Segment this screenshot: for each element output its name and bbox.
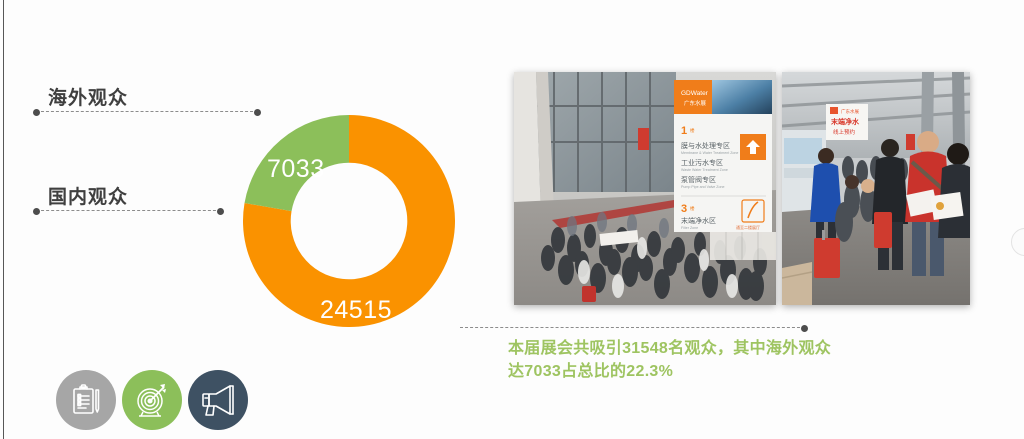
svg-text:末端净水区: 末端净水区 — [681, 216, 716, 225]
legend-rule-overseas — [36, 111, 258, 113]
donut-value-overseas: 7033 — [267, 155, 325, 184]
megaphone-icon — [200, 383, 236, 417]
svg-text:Membrane & Water Treatment Zon: Membrane & Water Treatment Zone — [681, 151, 738, 155]
svg-text:楼: 楼 — [690, 205, 695, 212]
svg-text:Filter Zone: Filter Zone — [681, 226, 698, 230]
svg-text:泵管阀专区: 泵管阀专区 — [681, 175, 716, 184]
svg-text:广东水展: 广东水展 — [841, 108, 859, 115]
caption-rule — [460, 327, 805, 329]
donut-value-domestic: 24515 — [320, 296, 392, 325]
svg-text:广东水展: 广东水展 — [684, 99, 707, 107]
svg-text:Waste Water Treatment Zone: Waste Water Treatment Zone — [681, 168, 728, 172]
right-edge-handle[interactable] — [1011, 228, 1024, 256]
donut-chart: 7033 24515 — [243, 115, 455, 327]
legend-label-domestic: 国内观众 — [48, 182, 128, 209]
photo-visitor-queue[interactable]: 广东水展 末端净水 线上预约 — [782, 72, 970, 305]
svg-text:3: 3 — [681, 203, 687, 215]
rule-dot-left — [33, 109, 40, 116]
clipboard-icon — [69, 383, 103, 417]
queue-banner: 广东水展 末端净水 线上预约 — [826, 104, 868, 140]
legend-rule-domestic — [36, 210, 221, 212]
rule-dot-right — [217, 208, 224, 215]
svg-text:通至二楼展厅: 通至二楼展厅 — [736, 224, 760, 230]
icon-badge-report[interactable] — [56, 370, 116, 430]
svg-text:膜与水处理专区: 膜与水处理专区 — [681, 141, 730, 150]
rule-dot-left — [33, 208, 40, 215]
rule-dot-right — [801, 325, 808, 332]
legend-label-overseas: 海外观众 — [48, 83, 128, 110]
svg-text:Pump Pipe and Valve Zone: Pump Pipe and Valve Zone — [681, 185, 724, 189]
svg-text:楼: 楼 — [690, 127, 695, 134]
target-icon — [134, 382, 170, 418]
svg-text:线上预约: 线上预约 — [833, 128, 856, 136]
svg-text:末端净水: 末端净水 — [831, 117, 860, 126]
photo-queue-art: 广东水展 末端净水 线上预约 — [782, 72, 970, 305]
icon-badge-target[interactable] — [122, 370, 182, 430]
photo-hall-art: GDWater 广东水展 1 楼 膜与水处理专区 Membrane & Wate… — [514, 72, 776, 305]
photo-exhibition-hall[interactable]: GDWater 广东水展 1 楼 膜与水处理专区 Membrane & Wate… — [514, 72, 776, 305]
caption-text: 本届展会共吸引31548名观众，其中海外观众达7033占总比的22.3% — [508, 337, 838, 383]
svg-text:GDWater: GDWater — [681, 90, 709, 97]
icon-badge-promotion[interactable] — [188, 370, 248, 430]
svg-text:1: 1 — [681, 125, 687, 137]
sign-board: GDWater 广东水展 1 楼 膜与水处理专区 Membrane & Wate… — [674, 80, 772, 232]
left-edge-divider — [3, 0, 4, 439]
svg-text:工业污水专区: 工业污水专区 — [681, 158, 723, 167]
slide-canvas: 海外观众 国内观众 7033 24515 — [0, 0, 1024, 439]
